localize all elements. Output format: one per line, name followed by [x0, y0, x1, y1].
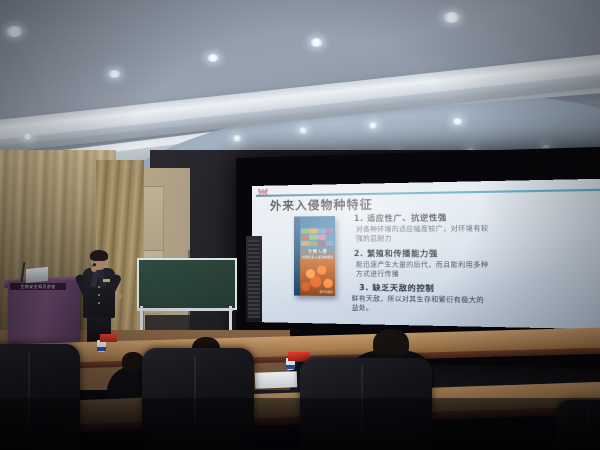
presenter-button — [98, 286, 100, 288]
presenter-gesturing-hand — [116, 294, 122, 299]
butterfly-logo-icon — [257, 187, 269, 195]
downlight — [443, 12, 460, 23]
conference-hall-photo: 外来入侵物种特征 生物入侵 中国外来入侵动物图鉴 科学出版社 1. 适应性广、抗… — [0, 0, 600, 450]
podium — [8, 281, 80, 343]
downlight — [368, 122, 378, 129]
slide-title: 外来入侵物种特征 — [270, 196, 373, 214]
presenter-hair — [90, 250, 108, 261]
downlight — [232, 135, 242, 142]
presenter-button — [98, 302, 100, 304]
slide-point-3-body: 鲜有天敌，所以对其生存和繁衍有极大的益处。 — [352, 294, 489, 316]
presenter — [78, 252, 122, 344]
chalkboard-surface — [137, 258, 237, 310]
red-card-1 — [100, 334, 117, 342]
attendee-right-head — [373, 329, 409, 360]
downlight — [207, 54, 219, 62]
attendee-left-head — [122, 352, 144, 372]
foreground-shadow — [0, 398, 600, 450]
podium-banner-text: 生物安全知识讲座 — [20, 284, 55, 290]
slide-point-3-heading: 3. 缺乏天敌的控制 — [359, 282, 489, 295]
slide-accent-rule — [256, 188, 600, 196]
slide-body-column: 1. 适应性广、抗逆性强 对各种环境的适应幅度较广，对环境有较强的忍耐力 2. … — [350, 211, 490, 319]
slide-point-2-body: 能迅速产生大量的后代，而且能利用多种方式进行传播 — [356, 260, 489, 280]
downlight — [452, 118, 463, 125]
name-card-1 — [255, 371, 298, 388]
downlight — [310, 38, 323, 47]
downlight — [298, 127, 308, 134]
book-publisher: 科学出版社 — [320, 290, 333, 294]
cup-band — [286, 365, 295, 369]
chalkboard-tray — [137, 308, 233, 311]
downlight — [6, 26, 23, 37]
presenter-insignia — [103, 279, 110, 282]
book-cover-photo: 科学出版社 — [300, 259, 335, 296]
slide-point-1-body: 对各种环境的适应幅度较广，对环境有较强的忍耐力 — [356, 224, 489, 244]
loudspeaker-grille — [248, 240, 260, 318]
downlight — [108, 70, 121, 78]
cup-band — [97, 347, 106, 351]
wall-loudspeaker — [246, 236, 262, 322]
podium-banner: 生物安全知识讲座 — [10, 283, 66, 290]
book-cover-image: 生物入侵 中国外来入侵动物图鉴 科学出版社 — [294, 216, 335, 296]
podium-laptop — [26, 267, 48, 283]
projection-screen[interactable]: 外来入侵物种特征 生物入侵 中国外来入侵动物图鉴 科学出版社 1. 适应性广、抗… — [252, 178, 600, 330]
downlight — [22, 133, 33, 140]
presenter-hand-holding-mic — [91, 266, 97, 272]
book-photo-grid — [301, 228, 334, 246]
slide-point-2-heading: 2. 繁殖和传播能力强 — [354, 247, 489, 259]
slide-point-1-heading: 1. 适应性广、抗逆性强 — [354, 211, 489, 224]
presenter-button — [98, 294, 100, 296]
book-front-face: 生物入侵 中国外来入侵动物图鉴 科学出版社 — [300, 216, 335, 296]
